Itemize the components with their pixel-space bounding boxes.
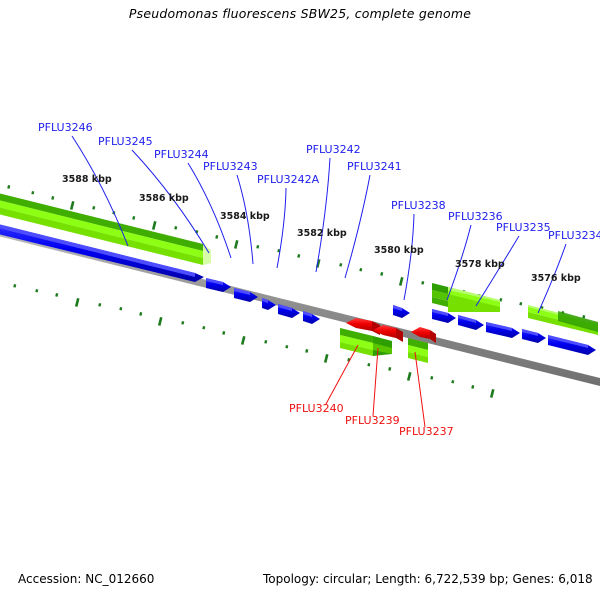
gene-leader-line (345, 175, 370, 278)
genome-diagram: PFLU3246PFLU3245PFLU3244PFLU3243PFLU3242… (0, 0, 600, 600)
gene-label-pflu3246[interactable]: PFLU3246 (38, 121, 93, 134)
forward-gene-arrow (458, 315, 484, 330)
gene-leader-line (476, 236, 519, 306)
gene-leader-line (373, 348, 378, 416)
scale-label: 3582 kbp (297, 228, 347, 239)
gene-leader-line (415, 352, 425, 427)
forward-leader-lines (72, 136, 566, 313)
gene-label-pflu3244[interactable]: PFLU3244 (154, 148, 209, 161)
gene-label-pflu3235[interactable]: PFLU3235 (496, 221, 551, 234)
forward-gene-group-mid[interactable] (393, 305, 410, 318)
genome-summary-text: Topology: circular; Length: 6,722,539 bp… (263, 572, 593, 586)
gene-label-pflu3243[interactable]: PFLU3243 (203, 160, 258, 173)
gene-leader-line (404, 214, 414, 300)
gene-label-pflu3242[interactable]: PFLU3242 (306, 143, 361, 156)
forward-gene-labels[interactable]: PFLU3246PFLU3245PFLU3244PFLU3243PFLU3242… (38, 121, 600, 242)
scale-label: 3586 kbp (139, 193, 189, 204)
gene-leader-line (277, 188, 286, 268)
forward-gene-arrow (522, 329, 546, 343)
gene-leader-line (326, 345, 358, 404)
scale-label: 3584 kbp (220, 211, 270, 222)
gene-label-pflu3239[interactable]: PFLU3239 (345, 414, 400, 427)
scale-label: 3580 kbp (374, 245, 424, 256)
gene-label-pflu3234[interactable]: PFLU3234 (548, 229, 600, 242)
gene-label-pflu3238[interactable]: PFLU3238 (391, 199, 446, 212)
gene-label-pflu3240[interactable]: PFLU3240 (289, 402, 344, 415)
scale-label: 3578 kbp (455, 259, 505, 270)
forward-gene-arrow (393, 305, 410, 318)
accession-text: Accession: NC_012660 (18, 572, 154, 586)
feature-band-right[interactable] (432, 283, 598, 335)
gene-label-pflu3245[interactable]: PFLU3245 (98, 135, 153, 148)
forward-gene-arrow (486, 322, 520, 338)
gene-label-pflu3236[interactable]: PFLU3236 (448, 210, 503, 223)
reverse-gene-labels[interactable]: PFLU3240PFLU3239PFLU3237 (289, 402, 454, 438)
scale-label: 3576 kbp (531, 273, 581, 284)
gene-label-pflu3241[interactable]: PFLU3241 (347, 160, 402, 173)
gene-label-pflu3242a[interactable]: PFLU3242A (257, 173, 320, 186)
gene-label-pflu3237[interactable]: PFLU3237 (399, 425, 454, 438)
scale-label: 3588 kbp (62, 174, 112, 185)
genome-map-canvas: Pseudomonas fluorescens SBW25, complete … (0, 0, 600, 600)
forward-gene-arrow (548, 335, 596, 355)
